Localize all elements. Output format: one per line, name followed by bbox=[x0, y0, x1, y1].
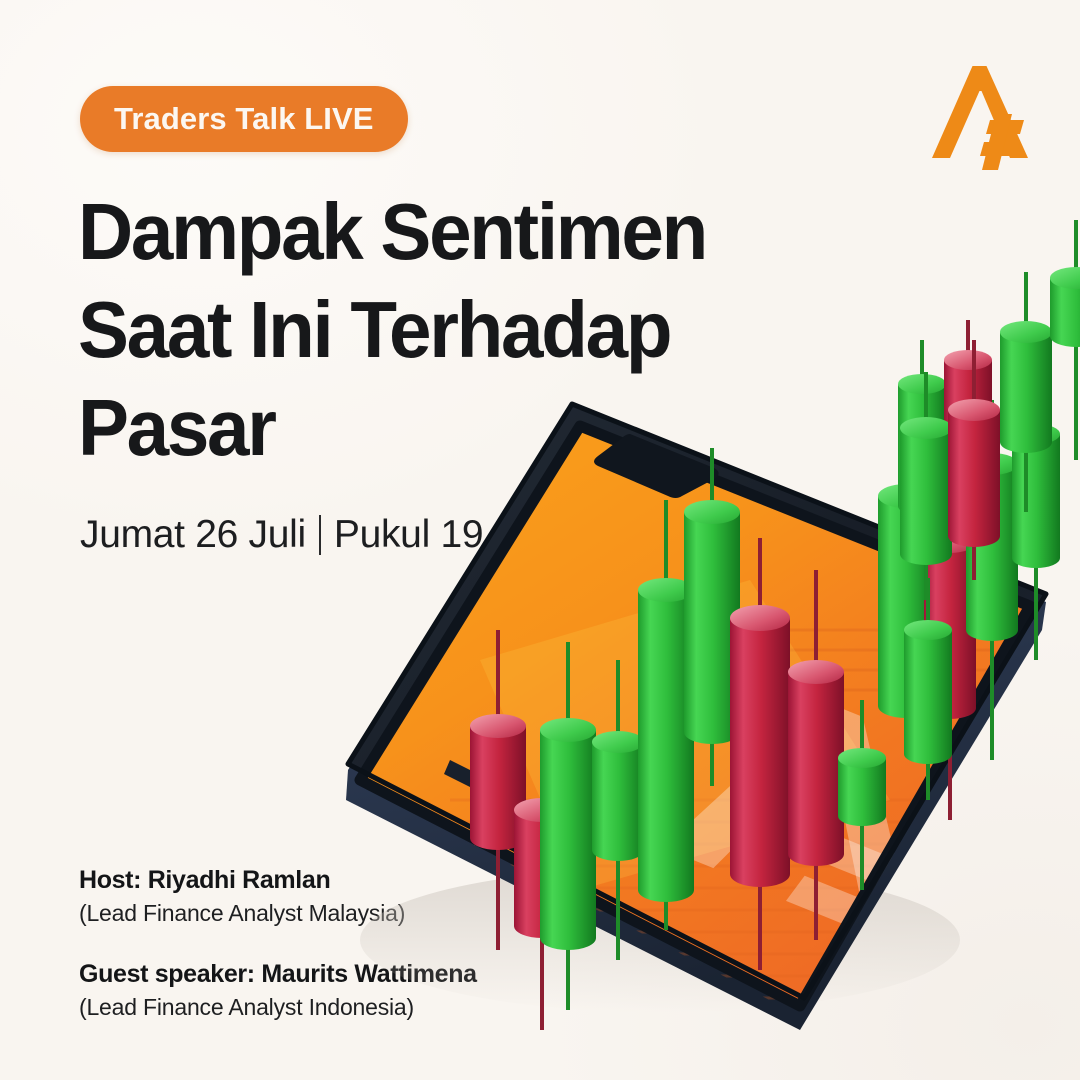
artwork-svg bbox=[330, 330, 1080, 1080]
letter-a-currency-logo-icon bbox=[924, 58, 1036, 176]
live-badge: Traders Talk LIVE bbox=[80, 86, 408, 152]
headline-line-1: Dampak Sentimen bbox=[78, 192, 804, 272]
brand-logo bbox=[924, 58, 1036, 176]
schedule-date: Jumat 26 Juli bbox=[80, 513, 306, 557]
schedule-separator bbox=[319, 515, 321, 555]
promo-poster: Traders Talk LIVE Dampak Sentimen Saat I… bbox=[0, 0, 1080, 1080]
phone-candlestick-artwork bbox=[330, 330, 1080, 1080]
candle-20 bbox=[1050, 220, 1080, 460]
live-badge-label: Traders Talk LIVE bbox=[114, 101, 374, 137]
